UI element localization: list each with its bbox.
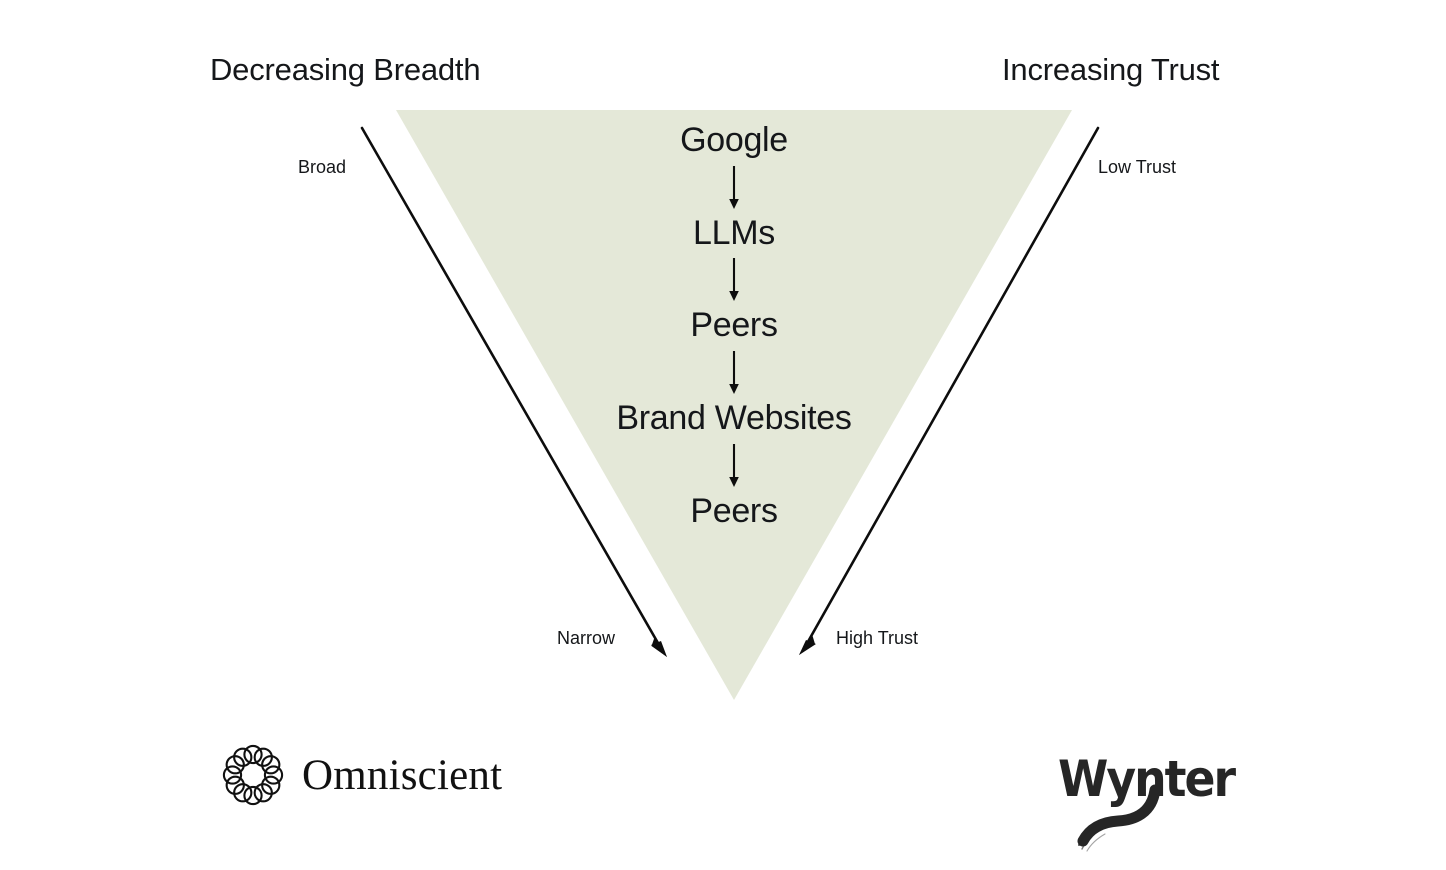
header-increasing-trust: Increasing Trust [1002, 52, 1219, 88]
label-narrow: Narrow [557, 628, 615, 649]
label-high-trust: High Trust [836, 628, 918, 649]
funnel-stage-list: Google LLMs Peers Brand Websites Peers [434, 122, 1034, 530]
funnel-stage-llms: LLMs [693, 215, 775, 252]
funnel-stage-peers-upper: Peers [690, 307, 777, 344]
label-low-trust: Low Trust [1098, 157, 1176, 178]
omniscient-wordmark: Omniscient [302, 754, 502, 797]
wynter-wordmark-text: Wynter [1058, 750, 1236, 808]
omniscient-logo: Omniscient [222, 744, 502, 806]
funnel-stage-peers-lower: Peers [690, 493, 777, 530]
wynter-wordmark: Wynter [1058, 748, 1238, 818]
down-arrow-icon [727, 350, 741, 396]
funnel-stage-google: Google [680, 122, 788, 159]
wynter-logo: Wynter [1058, 748, 1238, 823]
omniscient-mark-spacer [222, 744, 284, 806]
down-arrow-icon [727, 443, 741, 489]
header-decreasing-breadth: Decreasing Breadth [210, 52, 480, 88]
label-broad: Broad [298, 157, 346, 178]
funnel-stage-brand-websites: Brand Websites [616, 400, 851, 437]
diagram-canvas: Decreasing Breadth Increasing Trust Broa… [0, 0, 1446, 870]
down-arrow-icon [727, 257, 741, 303]
down-arrow-icon [727, 165, 741, 211]
